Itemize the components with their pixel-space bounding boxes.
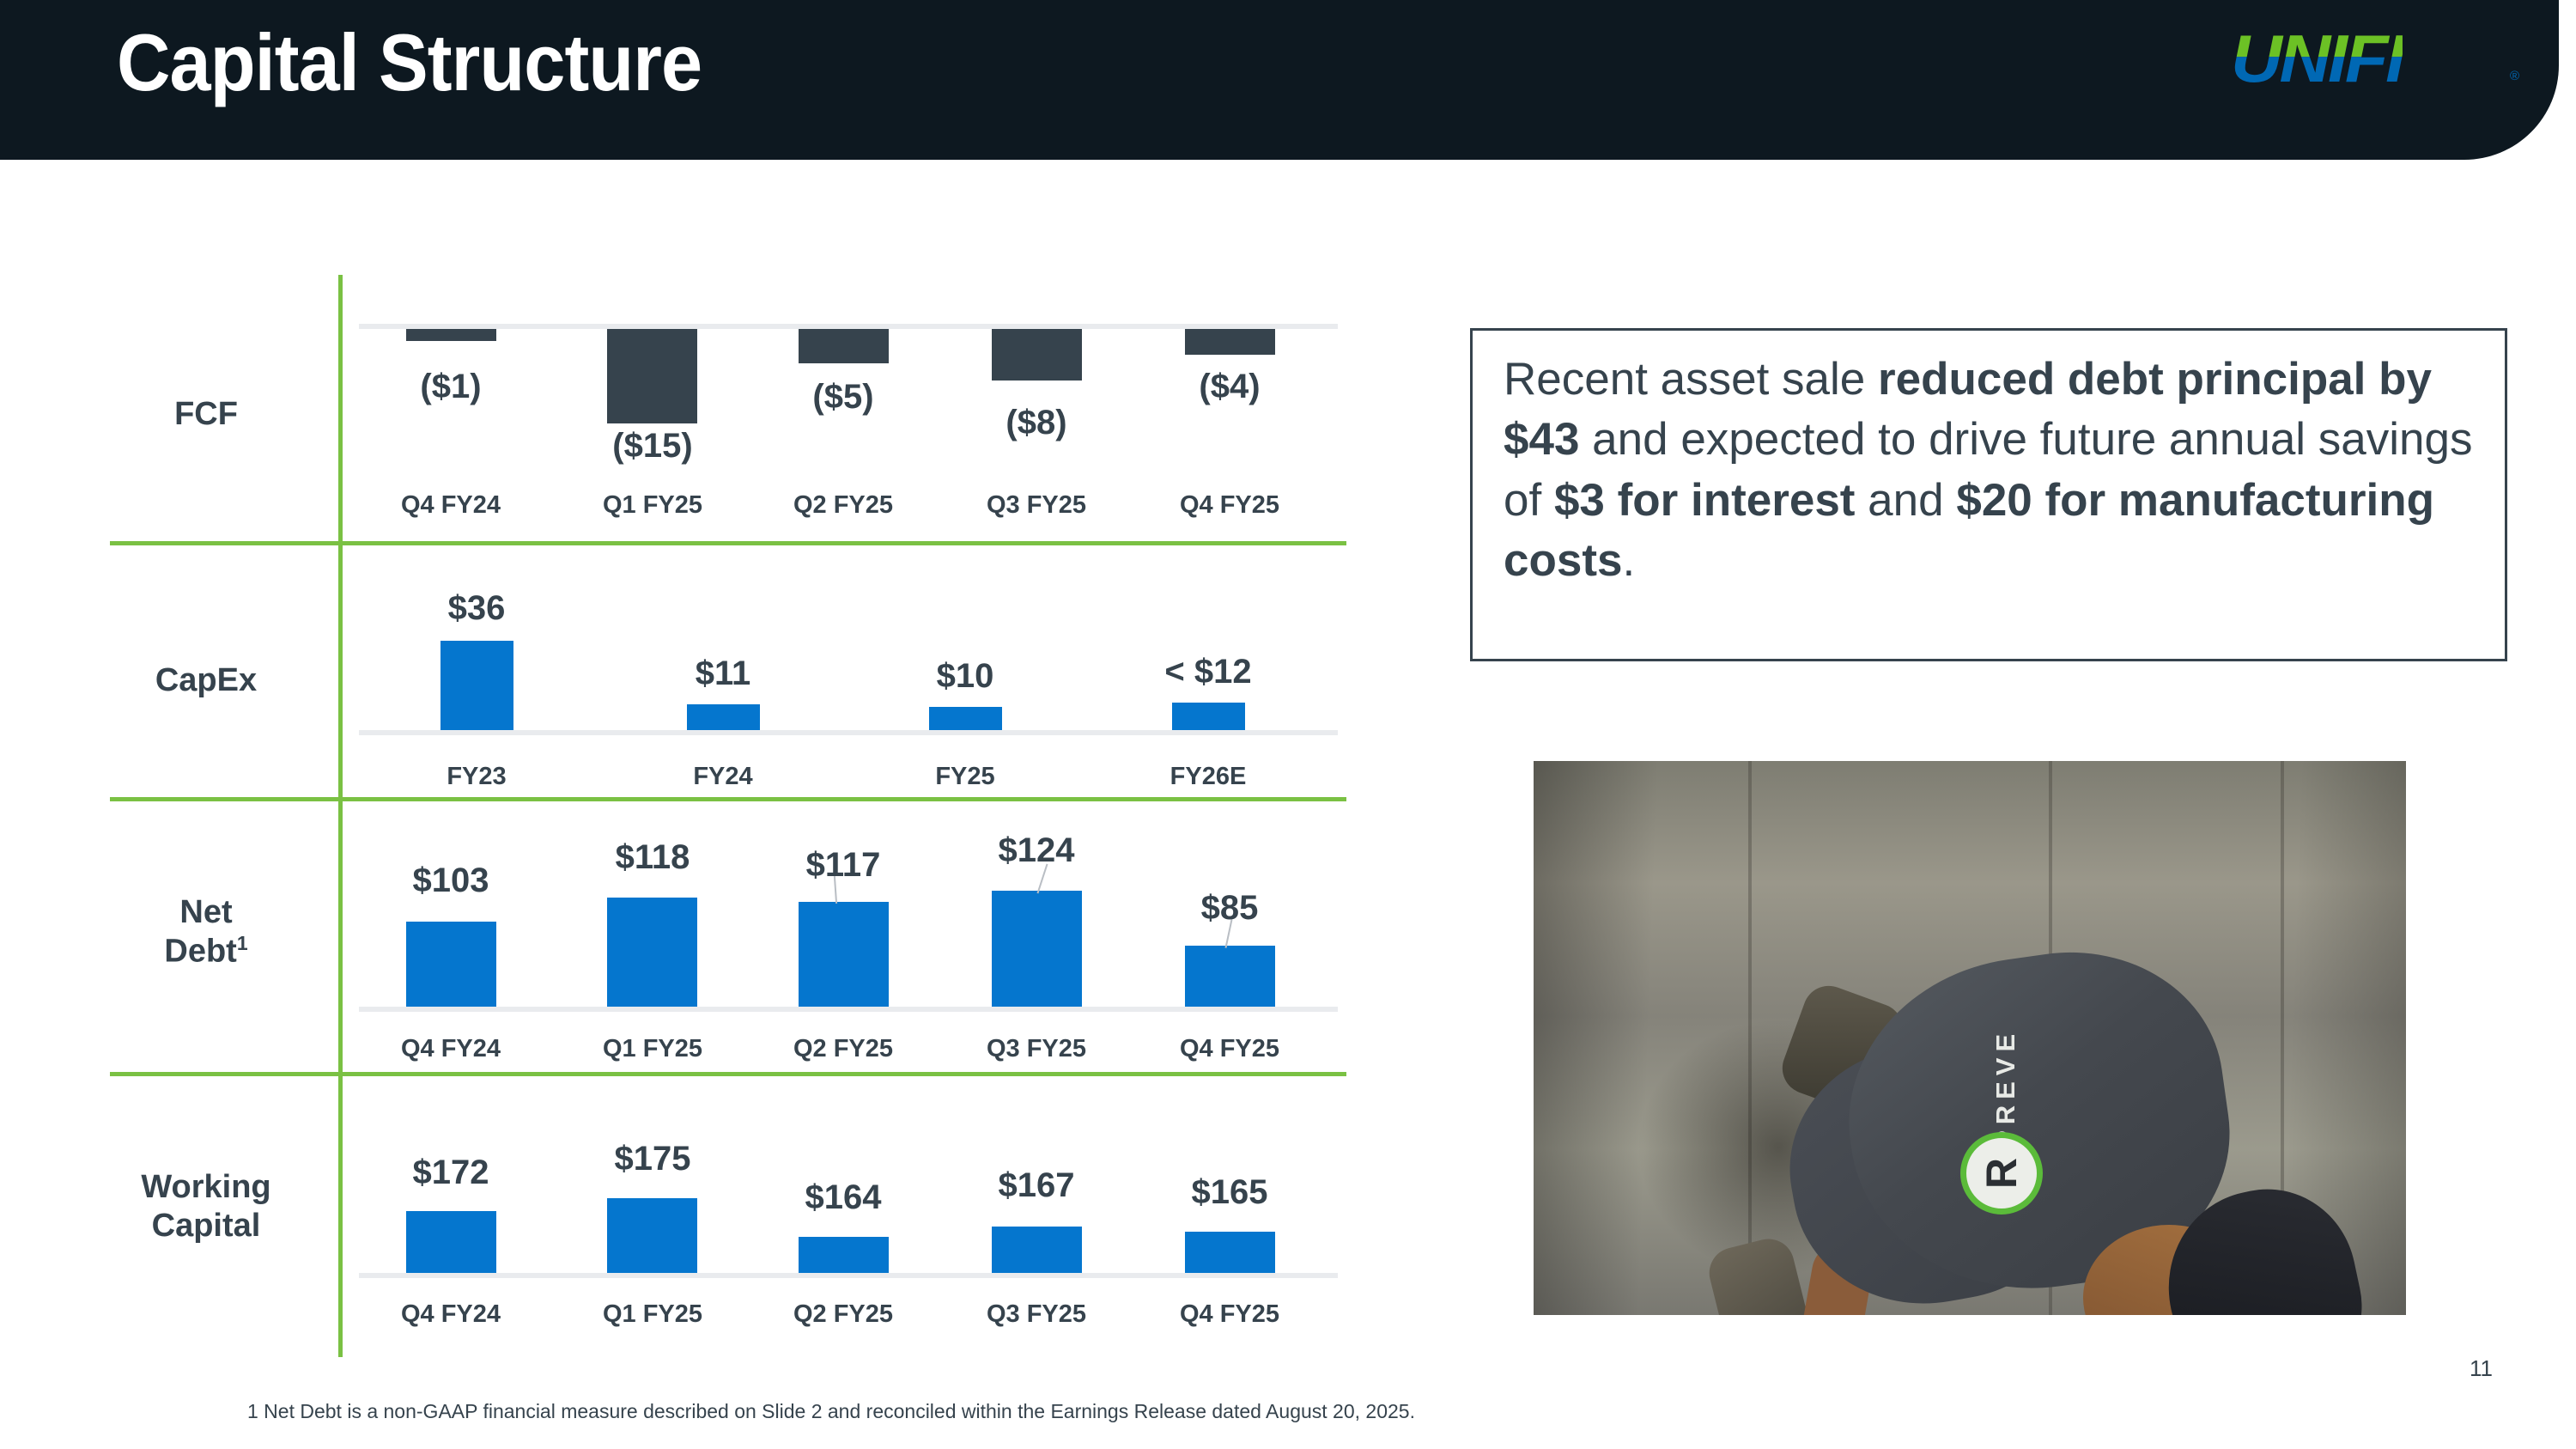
- working-baseline-axis: [359, 1273, 1338, 1278]
- row-label-netdebt-line1: Net: [179, 894, 232, 930]
- fcf-value-2: ($5): [757, 378, 929, 417]
- netdebt-value-0: $103: [365, 861, 537, 900]
- capex-value-1: $11: [637, 654, 809, 693]
- fcf-category-1: Q1 FY25: [567, 491, 738, 520]
- capex-baseline-axis: [359, 730, 1338, 735]
- working-value-1: $175: [567, 1140, 738, 1178]
- working-value-3: $167: [951, 1166, 1122, 1205]
- capex-category-3: FY26E: [1122, 763, 1294, 791]
- capex-category-0: FY23: [391, 763, 562, 791]
- netdebt-category-1: Q1 FY25: [567, 1035, 738, 1063]
- capex-bar-0: [440, 641, 513, 730]
- working-bar-4: [1185, 1232, 1275, 1273]
- page-title: Capital Structure: [117, 22, 702, 103]
- fcf-category-3: Q3 FY25: [951, 491, 1122, 520]
- working-value-4: $165: [1144, 1173, 1315, 1212]
- repreve-photo: REPREVE R: [1534, 761, 2406, 1315]
- netdebt-value-2: $117: [757, 846, 929, 885]
- netdebt-bar-3: [992, 891, 1082, 1007]
- grid-divider-fcf-capex: [110, 541, 1346, 545]
- fcf-value-3: ($8): [951, 404, 1122, 442]
- netdebt-category-3: Q3 FY25: [951, 1035, 1122, 1063]
- fcf-value-4: ($4): [1144, 368, 1315, 406]
- unifi-logo: UNIFI UNIFI ®: [2231, 19, 2514, 98]
- working-category-4: Q4 FY25: [1144, 1300, 1315, 1329]
- row-label-working-line2: Capital: [152, 1208, 261, 1244]
- callout-bold-2: $3 for interest: [1554, 475, 1856, 526]
- fcf-bar-4: [1185, 329, 1275, 355]
- netdebt-bar-1: [607, 898, 697, 1007]
- fcf-category-0: Q4 FY24: [365, 491, 537, 520]
- row-label-working-capital: Working Capital: [86, 1168, 326, 1245]
- callout-text: Recent asset sale reduced debt principal…: [1504, 350, 2491, 592]
- working-category-0: Q4 FY24: [365, 1300, 537, 1329]
- fcf-category-2: Q2 FY25: [757, 491, 929, 520]
- footnote-marker: 1: [237, 932, 248, 954]
- netdebt-value-1: $118: [567, 838, 738, 877]
- working-category-3: Q3 FY25: [951, 1300, 1122, 1329]
- row-label-netdebt-line2: Debt: [164, 933, 236, 969]
- capex-value-3: < $12: [1122, 653, 1294, 691]
- netdebt-value-3: $124: [951, 831, 1122, 870]
- capex-category-1: FY24: [637, 763, 809, 791]
- fcf-bar-1: [607, 329, 697, 423]
- netdebt-category-0: Q4 FY24: [365, 1035, 537, 1063]
- netdebt-bar-4: [1185, 946, 1275, 1007]
- working-value-0: $172: [365, 1154, 537, 1192]
- netdebt-value-4: $85: [1144, 889, 1315, 928]
- working-bar-3: [992, 1227, 1082, 1273]
- repreve-mark-icon: R: [1960, 1132, 2043, 1215]
- fcf-bar-0: [406, 329, 496, 341]
- fcf-value-0: ($1): [365, 368, 537, 406]
- fcf-bar-2: [799, 329, 889, 363]
- capex-bar-3: [1172, 703, 1245, 730]
- working-value-2: $164: [757, 1178, 929, 1217]
- netdebt-bar-0: [406, 922, 496, 1007]
- grid-divider-netdebt-working: [110, 1072, 1346, 1076]
- working-category-2: Q2 FY25: [757, 1300, 929, 1329]
- fcf-category-4: Q4 FY25: [1144, 491, 1315, 520]
- capex-value-2: $10: [879, 657, 1051, 696]
- registered-trademark-icon: ®: [2510, 69, 2519, 83]
- callout-part-3: and: [1855, 475, 1956, 526]
- working-bar-0: [406, 1211, 496, 1273]
- row-label-netdebt: Net Debt1: [86, 893, 326, 971]
- capex-value-0: $36: [391, 589, 562, 628]
- fcf-bar-3: [992, 329, 1082, 381]
- page-number: 11: [2470, 1355, 2493, 1382]
- callout-part-1: Recent asset sale: [1504, 354, 1878, 405]
- row-label-fcf: FCF: [86, 395, 326, 434]
- working-bar-2: [799, 1237, 889, 1273]
- capex-category-2: FY25: [879, 763, 1051, 791]
- slide-header: Capital Structure UNIFI UNIFI ®: [0, 0, 2559, 160]
- footnote-text: 1 Net Debt is a non-GAAP financial measu…: [247, 1400, 1415, 1423]
- netdebt-baseline-axis: [359, 1007, 1338, 1012]
- netdebt-category-4: Q4 FY25: [1144, 1035, 1315, 1063]
- callout-part-4: .: [1622, 535, 1635, 586]
- capex-bar-1: [687, 704, 760, 730]
- row-label-capex: CapEx: [86, 661, 326, 700]
- grid-vertical-divider: [338, 275, 343, 1357]
- callout-box: Recent asset sale reduced debt principal…: [1470, 328, 2507, 661]
- netdebt-category-2: Q2 FY25: [757, 1035, 929, 1063]
- grid-divider-capex-netdebt: [110, 797, 1346, 801]
- working-bar-1: [607, 1198, 697, 1273]
- fcf-value-1: ($15): [567, 427, 738, 466]
- working-category-1: Q1 FY25: [567, 1300, 738, 1329]
- capex-bar-2: [929, 707, 1002, 730]
- netdebt-bar-2: [799, 902, 889, 1007]
- row-label-working-line1: Working: [141, 1169, 270, 1205]
